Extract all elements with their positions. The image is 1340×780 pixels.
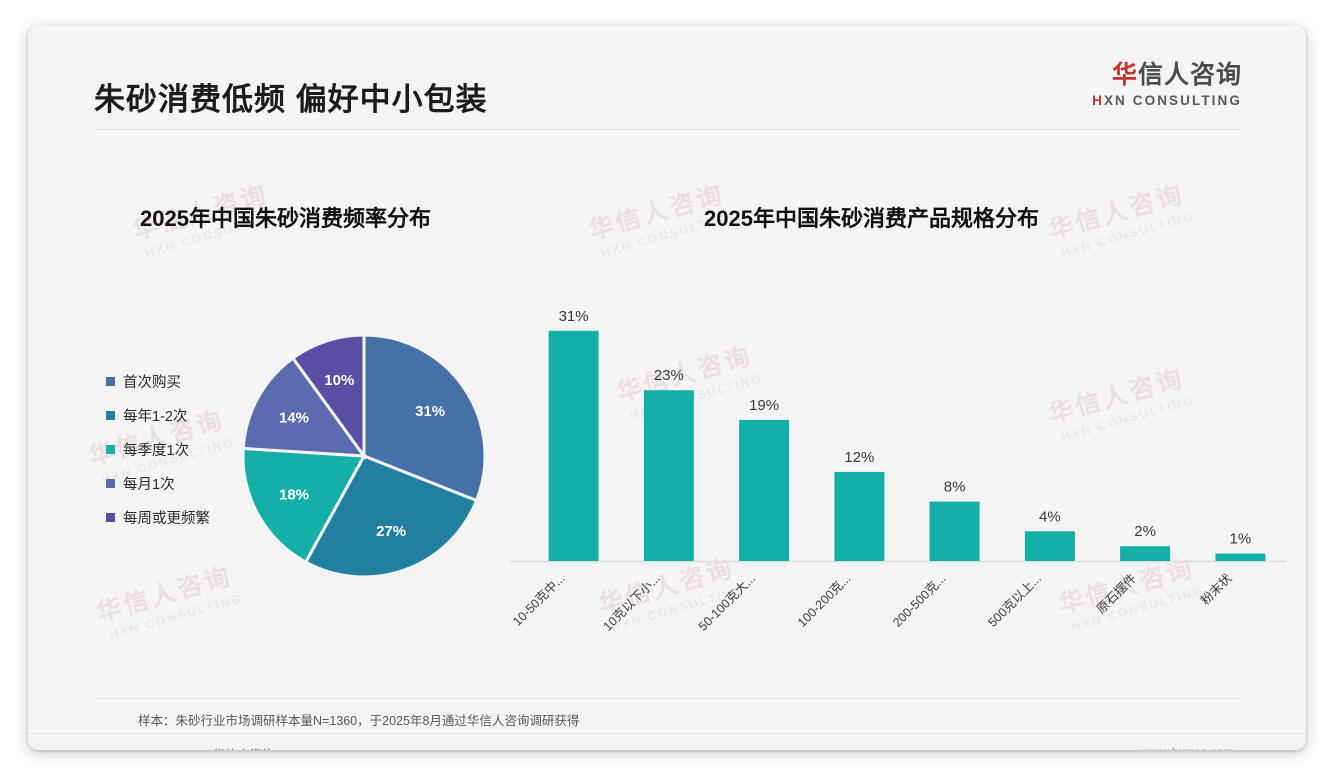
logo-en-rest: XN CONSULTING [1104,93,1242,108]
legend-item[interactable]: 每周或更频繁 [106,500,210,534]
slide-canvas: 华信人咨询 HXN CONSULTING 华信人咨询 HXN CONSULTIN… [28,26,1306,750]
bar[interactable] [644,390,694,561]
bar-value-label: 4% [1039,508,1061,525]
pie-slice-label: 14% [279,410,309,427]
pie-legend: 首次购买每年1-2次每季度1次每月1次每周或更频繁 [106,364,210,534]
bar-value-label: 1% [1230,531,1252,548]
pie-chart-panel: 首次购买每年1-2次每季度1次每月1次每周或更频繁 31%27%18%14%10… [78,276,538,626]
copyright-text: ©2025.10 HXR华信人咨询 [128,744,275,750]
legend-item-label: 每周或更频繁 [123,507,210,528]
legend-item[interactable]: 每月1次 [106,466,210,500]
bar-category-label: 500克以上... [985,571,1044,630]
watermark-en: HXN CONSULTING [1060,209,1196,260]
logo-chinese: 华信人咨询 [1052,62,1242,90]
bar-value-label: 12% [844,449,874,466]
bar-value-label: 31% [559,308,589,325]
legend-swatch-icon [106,479,115,488]
legend-item[interactable]: 每年1-2次 [106,398,210,432]
logo-cn-rest: 信人咨询 [1138,61,1242,89]
bar[interactable] [1120,546,1170,561]
pie-slice-label: 27% [376,523,406,540]
bar-value-label: 19% [749,397,779,414]
pie-slice-label: 18% [279,487,309,504]
logo-en-accent: H [1092,93,1104,108]
pie-slice-label: 31% [415,403,445,420]
legend-swatch-icon [106,411,115,420]
brand-logo: 华信人咨询 HXN CONSULTING [1052,62,1242,108]
legend-item[interactable]: 首次购买 [106,364,210,398]
legend-swatch-icon [106,513,115,522]
watermark: 华信人咨询 HXN CONSULTING [1044,173,1196,262]
bar[interactable] [834,472,884,561]
footer-divider [28,733,1306,734]
page-title: 朱砂消费低频 偏好中小包装 [94,74,488,119]
header-divider [94,129,1242,130]
sample-footnote: 样本：朱砂行业市场调研样本量N=1360，于2025年8月通过华信人咨询调研获得 [138,710,579,729]
bar-value-label: 8% [944,479,966,496]
website-url: www.hxrcon.com [1143,745,1234,750]
bar-chart-panel: 31%10-50克中...23%10克以下小...19%50-100克大...1… [498,276,1288,646]
footnote-divider [94,698,1242,699]
bar-category-label: 10克以下小... [601,571,663,633]
slide-header: 朱砂消费低频 偏好中小包装 华信人咨询 HXN CONSULTING [28,26,1306,136]
bar-category-label: 200-500克... [890,571,949,630]
bar[interactable] [930,502,980,561]
bar-category-label: 粉末状 [1197,570,1234,607]
bar[interactable] [739,420,789,561]
logo-cn-accent: 华 [1112,61,1138,89]
legend-item-label: 每季度1次 [123,439,189,460]
pie-chart-title: 2025年中国朱砂消费频率分布 [140,201,431,233]
legend-item-label: 每年1-2次 [123,405,187,426]
logo-english: HXN CONSULTING [1052,93,1242,108]
legend-item-label: 每月1次 [123,473,175,494]
bar-value-label: 23% [654,367,684,384]
legend-item-label: 首次购买 [123,371,181,392]
legend-swatch-icon [106,445,115,454]
bar-chart: 31%10-50克中...23%10克以下小...19%50-100克大...1… [498,276,1288,646]
bar-category-label: 10-50克中... [509,571,567,629]
pie-slice-label: 10% [324,372,354,389]
watermark-cn: 华信人咨询 [1044,173,1192,247]
bar[interactable] [549,331,599,561]
bar-category-label: 50-100克大... [696,571,758,633]
bar-category-label: 原石摆件 [1094,571,1139,616]
bar-value-label: 2% [1134,523,1156,540]
bar-chart-title: 2025年中国朱砂消费产品规格分布 [704,201,1039,233]
legend-swatch-icon [106,377,115,386]
bar[interactable] [1025,531,1075,561]
legend-item[interactable]: 每季度1次 [106,432,210,466]
bar[interactable] [1215,554,1265,561]
bar-category-label: 100-200克... [795,571,854,630]
pie-chart: 31%27%18%14%10% [214,306,514,606]
